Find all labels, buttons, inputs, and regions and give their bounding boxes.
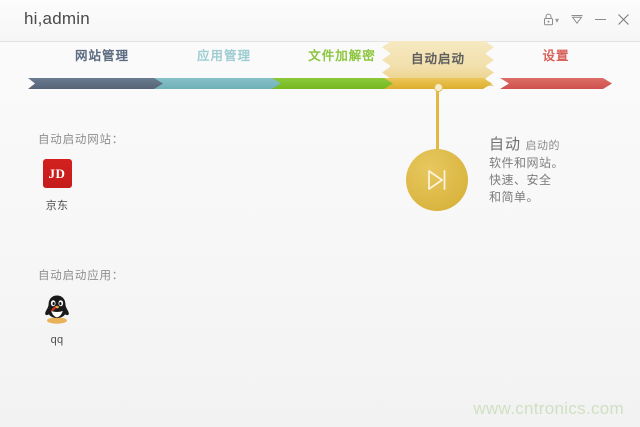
- feature-description: 自动 启动的 软件和网站。 快速、安全 和简单。: [489, 136, 564, 206]
- connector-dot: [434, 83, 443, 92]
- tab-label: 文件加解密: [308, 49, 376, 63]
- tab-arrow: [28, 78, 176, 89]
- chevron-down-icon: ▾: [555, 17, 559, 25]
- lock-icon: [543, 13, 554, 26]
- jd-icon: JD: [43, 159, 72, 188]
- list-item-app-qq[interactable]: qq: [31, 293, 83, 346]
- skip-forward-icon: [422, 167, 452, 193]
- tab-label: 设置: [542, 49, 569, 63]
- tab-settings[interactable]: 设置: [500, 41, 612, 90]
- connector-line: [436, 88, 439, 153]
- app-window: hi,admin ▾: [0, 0, 640, 427]
- collapse-icon[interactable]: [570, 13, 584, 26]
- close-button[interactable]: [617, 13, 630, 26]
- auto-start-play-button[interactable]: [406, 149, 468, 211]
- tab-label: 应用管理: [197, 49, 251, 63]
- list-item-label: 京东: [46, 197, 69, 213]
- window-controls: ▾: [543, 9, 630, 29]
- minimize-button[interactable]: [595, 19, 606, 20]
- watermark: www.cntronics.com: [473, 399, 624, 419]
- lock-dropdown-button[interactable]: ▾: [543, 13, 559, 26]
- section-title-apps: 自动启动应用：: [38, 267, 124, 283]
- title-bar: hi,admin ▾: [0, 0, 640, 42]
- tab-arrow: [500, 78, 612, 89]
- section-title-websites: 自动启动网站：: [38, 131, 124, 147]
- desc-line1-rest: 启动的: [525, 140, 560, 152]
- desc-line3: 快速、安全: [489, 172, 564, 189]
- main-nav: 网站管理 应用管理 文件加解密 自动启动 设置: [0, 41, 640, 90]
- tab-arrow: [154, 78, 294, 89]
- qq-penguin-icon: [42, 293, 72, 325]
- list-item-website-jd[interactable]: JD 京东: [31, 159, 83, 213]
- desc-line2: 软件和网站。: [489, 155, 564, 172]
- page-title: hi,admin: [24, 9, 90, 29]
- desc-line1-emphasis: 自动: [489, 136, 521, 153]
- tab-label: 网站管理: [75, 49, 129, 63]
- list-item-label: qq: [51, 334, 64, 346]
- tab-label: 自动启动: [411, 52, 465, 66]
- desc-line4: 和简单。: [489, 189, 564, 206]
